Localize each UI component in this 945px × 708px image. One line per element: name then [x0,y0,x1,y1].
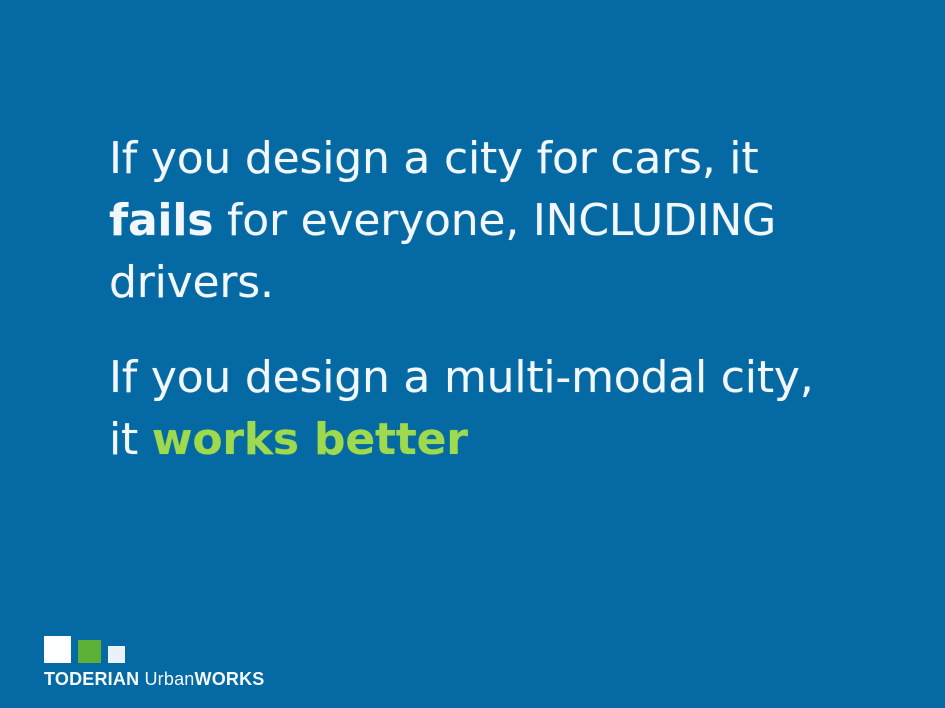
logo-squares-mark [44,636,274,663]
logo-square-large-icon [44,636,71,663]
logo-square-small-icon [108,646,125,663]
quote-p1-emphasis-fails: fails [109,195,213,246]
quote-p2-emphasis-works-better: works better [152,414,468,465]
logo-wordmark-urban: Urban [139,669,194,689]
quote-paragraph-multimodal: If you design a multi-modal city, it wor… [109,347,849,471]
quote-block: If you design a city for cars, it fails … [109,128,849,471]
logo-wordmark: TODERIAN UrbanWORKS [44,669,274,689]
quote-slide: If you design a city for cars, it fails … [0,0,945,708]
toderian-urbanworks-logo: TODERIAN UrbanWORKS [44,636,274,689]
quote-paragraph-cars: If you design a city for cars, it fails … [109,128,849,314]
logo-wordmark-works: WORKS [195,669,265,689]
logo-square-green-icon [78,640,101,663]
quote-p1-segment-1: If you design a city for cars, it [109,133,758,184]
logo-wordmark-toderian: TODERIAN [44,669,139,689]
